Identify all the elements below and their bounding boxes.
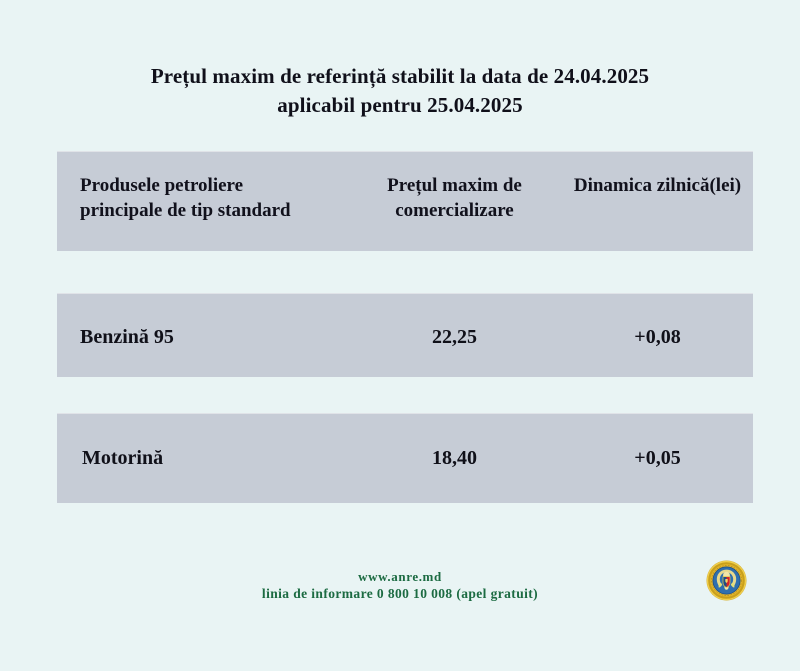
table-header-label-product: Produsele petroliere principale de tip s… (80, 173, 330, 223)
table-header-cell-max-price: Prețul maxim de comercializare (347, 173, 562, 223)
product-name-motorina: Motorină (82, 447, 163, 469)
page-title-line-2: aplicabil pentru 25.04.2025 (0, 91, 800, 120)
table-header-cell-daily-change: Dinamica zilnică(lei) (562, 173, 753, 198)
table-cell-product: Benzină 95 (57, 326, 347, 349)
table-row: Benzină 95 22,25 +0,08 (57, 293, 753, 377)
moldova-state-emblem-icon (706, 560, 747, 601)
footer: www.anre.md linia de informare 0 800 10 … (0, 568, 800, 603)
footer-website[interactable]: www.anre.md (0, 568, 800, 585)
page-title-line-1: Prețul maxim de referință stabilit la da… (0, 62, 800, 91)
table-header-cell-product: Produsele petroliere principale de tip s… (57, 173, 347, 223)
page-title: Prețul maxim de referință stabilit la da… (0, 62, 800, 120)
table-cell-daily-change: +0,05 (562, 447, 753, 470)
table-header-label-max-price: Prețul maxim de comercializare (347, 173, 562, 223)
product-name-benzina-95: Benzină 95 (80, 326, 174, 348)
max-price-benzina-95: 22,25 (432, 326, 477, 348)
table-cell-daily-change: +0,08 (562, 326, 753, 349)
max-price-motorina: 18,40 (432, 447, 477, 469)
daily-change-benzina-95: +0,08 (634, 326, 680, 348)
footer-info-line: linia de informare 0 800 10 008 (apel gr… (0, 585, 800, 603)
table-cell-max-price: 22,25 (347, 326, 562, 349)
table-cell-max-price: 18,40 (347, 447, 562, 470)
table-cell-product: Motorină (57, 447, 347, 470)
table-header-label-daily-change: Dinamica zilnică(lei) (562, 173, 753, 198)
price-notice-sheet: Prețul maxim de referință stabilit la da… (0, 0, 800, 671)
table-header-row: Produsele petroliere principale de tip s… (57, 151, 753, 251)
table-row: Motorină 18,40 +0,05 (57, 413, 753, 503)
daily-change-motorina: +0,05 (634, 447, 680, 469)
